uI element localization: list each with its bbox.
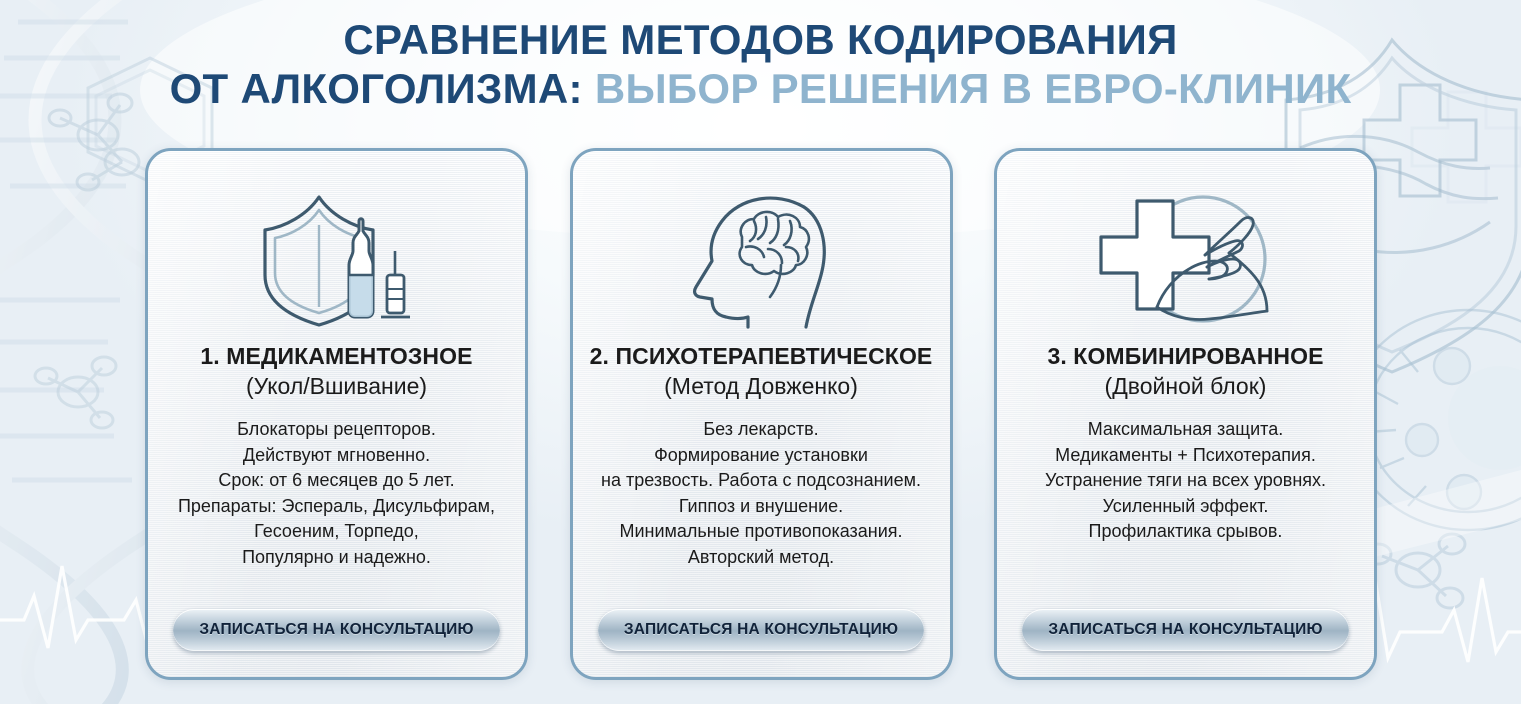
card-subheading: (Укол/Вшивание) bbox=[246, 373, 427, 400]
title-line-1: СРАВНЕНИЕ МЕТОДОВ КОДИРОВАНИЯ bbox=[0, 16, 1521, 63]
card-heading: 1. МЕДИКАМЕНТОЗНОЕ bbox=[200, 343, 472, 370]
method-card-2: 2. ПСИХОТЕРАПЕВТИЧЕСКОЕ (Метод Довженко)… bbox=[570, 148, 953, 680]
title-line-2: ОТ АЛКОГОЛИЗМА: ВЫБОР РЕШЕНИЯ В ЕВРО-КЛИ… bbox=[0, 65, 1521, 112]
cross-helping-hands-icon bbox=[1091, 189, 1281, 329]
head-brain-icon bbox=[686, 189, 836, 329]
method-card-3: 3. КОМБИНИРОВАННОЕ (Двойной блок) Максим… bbox=[994, 148, 1377, 680]
card-heading: 2. ПСИХОТЕРАПЕВТИЧЕСКОЕ bbox=[590, 343, 933, 370]
card-body: Блокаторы рецепторов. Действуют мгновенн… bbox=[168, 417, 505, 570]
infographic-banner: СРАВНЕНИЕ МЕТОДОВ КОДИРОВАНИЯ ОТ АЛКОГОЛ… bbox=[0, 0, 1521, 704]
card-subheading: (Метод Довженко) bbox=[664, 373, 858, 400]
method-card-1: 1. МЕДИКАМЕНТОЗНОЕ (Укол/Вшивание) Блока… bbox=[145, 148, 528, 680]
molecule-icon bbox=[1365, 534, 1465, 608]
page-title: СРАВНЕНИЕ МЕТОДОВ КОДИРОВАНИЯ ОТ АЛКОГОЛ… bbox=[0, 16, 1521, 113]
shield-ampoule-syringe-icon bbox=[257, 189, 417, 329]
molecule-icon bbox=[35, 357, 116, 428]
cta-consultation-button[interactable]: ЗАПИСАТЬСЯ НА КОНСУЛЬТАЦИЮ bbox=[1022, 609, 1348, 651]
card-heading: 3. КОМБИНИРОВАННОЕ bbox=[1047, 343, 1323, 370]
card-body: Максимальная защита. Медикаменты + Психо… bbox=[1035, 417, 1336, 545]
cta-consultation-button[interactable]: ЗАПИСАТЬСЯ НА КОНСУЛЬТАЦИЮ bbox=[173, 609, 499, 651]
title-line-2-light: ВЫБОР РЕШЕНИЯ В ЕВРО-КЛИНИК bbox=[595, 65, 1352, 112]
method-cards-row: 1. МЕДИКАМЕНТОЗНОЕ (Укол/Вшивание) Блока… bbox=[145, 148, 1377, 680]
title-line-2-dark: ОТ АЛКОГОЛИЗМА: bbox=[170, 65, 583, 112]
card-body: Без лекарств. Формирование установки на … bbox=[591, 417, 931, 570]
cta-consultation-button[interactable]: ЗАПИСАТЬСЯ НА КОНСУЛЬТАЦИЮ bbox=[598, 609, 924, 651]
card-subheading: (Двойной блок) bbox=[1105, 373, 1267, 400]
